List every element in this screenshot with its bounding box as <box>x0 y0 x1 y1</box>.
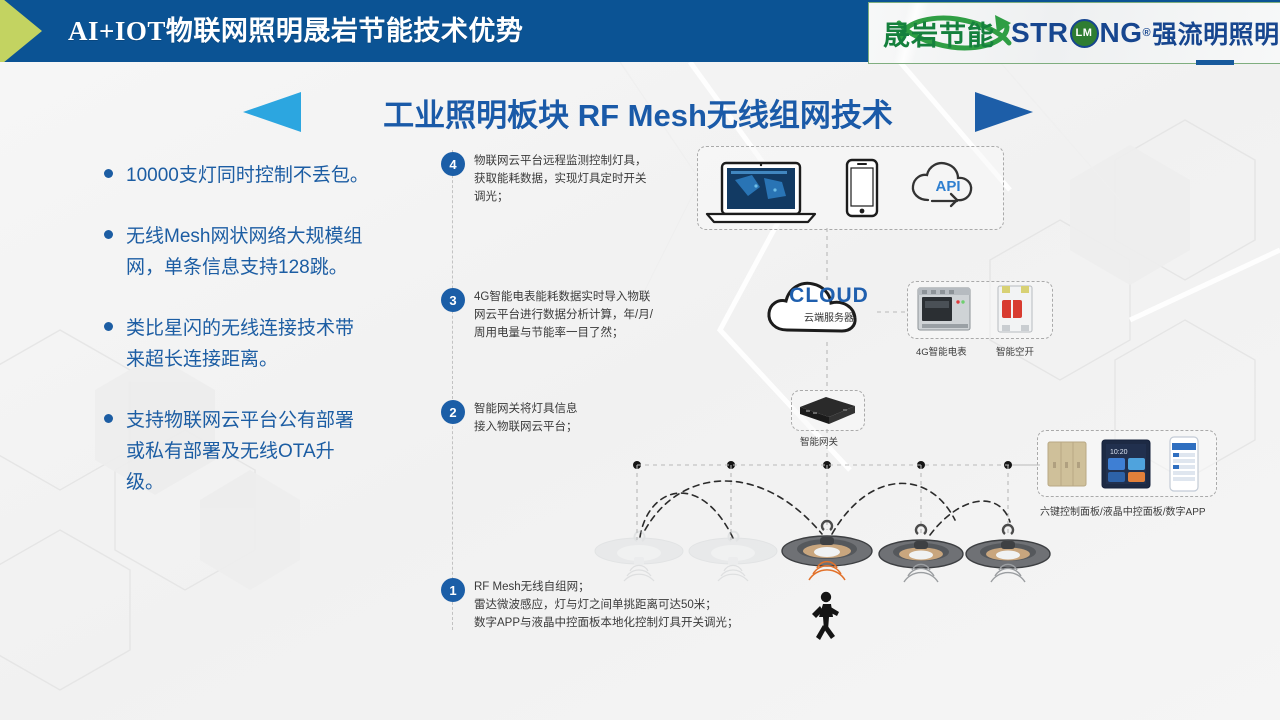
step-number-badge: 2 <box>441 400 465 424</box>
step-text: RF Mesh无线自组网； 雷达微波感应，灯与灯之间单挑距离可达50米； 数字A… <box>474 578 739 632</box>
bullet-dot-icon <box>104 322 113 331</box>
cloud-subtitle: 云端服务器 <box>781 309 877 324</box>
highbay-lamp-icon <box>782 521 872 580</box>
brand-latin: STRLMNG® 强流明照明 <box>1011 15 1280 51</box>
section-title-row: 工业照明板块 RF Mesh无线组网技术 <box>243 86 1033 138</box>
brand-chinese: 晟岩节能 <box>883 14 995 53</box>
step-1: 1 RF Mesh无线自组网； 雷达微波感应，灯与灯之间单挑距离可达50米； 数… <box>441 578 739 632</box>
list-item: 10000支灯同时控制不丢包。 <box>104 160 372 191</box>
bullet-dot-icon <box>104 414 113 423</box>
mesh-hop-arcs <box>640 481 1010 538</box>
mesh-node-dots <box>633 461 1012 469</box>
brand-o-mark-icon: LM <box>1070 19 1099 48</box>
brand-latin-pre: STR <box>1011 17 1069 49</box>
highbay-lamp-icon <box>966 525 1050 582</box>
caption-gateway: 智能网关 <box>800 434 838 448</box>
chevron-decoration-icon <box>0 0 42 62</box>
step-text: 4G智能电表能耗数据实时导入物联 网云平台进行数据分析计算，年/月/ 周用电量与… <box>474 288 653 342</box>
list-item: 支持物联网云平台公有部署或私有部署及无线OTA升级。 <box>104 405 372 498</box>
bullet-text: 类比星闪的无线连接技术带来超长连接距离。 <box>126 313 372 375</box>
page-title: AI+IOT物联网照明晟岩节能技术优势 <box>68 0 523 62</box>
feature-bullet-list: 10000支灯同时控制不丢包。 无线Mesh网状网络大规模组网，单条信息支持12… <box>104 160 372 528</box>
brand-suffix: 强流明照明 <box>1152 15 1280 51</box>
brand-logo: 晟岩节能 STRLMNG® 强流明照明 <box>868 2 1280 64</box>
person-walking-icon <box>812 592 839 640</box>
api-label: API <box>925 178 971 195</box>
step-connector-line <box>452 150 453 630</box>
control-panels-group <box>1037 430 1217 497</box>
step-4: 4 物联网云平台远程监测控制灯具， 获取能耗数据，实现灯具定时开关 调光； <box>441 152 647 206</box>
step-number-badge: 1 <box>441 578 465 602</box>
bullet-text: 10000支灯同时控制不丢包。 <box>126 160 369 191</box>
logo-underline-accent <box>1196 60 1234 65</box>
highbay-lamp-icon <box>689 532 777 581</box>
list-item: 无线Mesh网状网络大规模组网，单条信息支持128跳。 <box>104 221 372 283</box>
step-3: 3 4G智能电表能耗数据实时导入物联 网云平台进行数据分析计算，年/月/ 周用电… <box>441 288 653 342</box>
triangle-left-icon <box>243 92 301 132</box>
caption-breaker: 智能空开 <box>996 344 1034 358</box>
highbay-lamp-icon <box>595 532 683 581</box>
cloud-label: CLOUD 云端服务器 <box>781 284 877 324</box>
bullet-text: 支持物联网云平台公有部署或私有部署及无线OTA升级。 <box>126 405 372 498</box>
triangle-right-icon <box>975 92 1033 132</box>
registered-mark: ® <box>1143 27 1152 39</box>
bullet-text: 无线Mesh网状网络大规模组网，单条信息支持128跳。 <box>126 221 372 283</box>
bullet-dot-icon <box>104 230 113 239</box>
step-number-badge: 4 <box>441 152 465 176</box>
caption-meter: 4G智能电表 <box>916 344 967 358</box>
cloud-title: CLOUD <box>781 284 877 308</box>
section-title: 工业照明板块 RF Mesh无线组网技术 <box>301 90 975 135</box>
slide-canvas: AI+IOT物联网照明晟岩节能技术优势 晟岩节能 STRLMNG® 强流明照明 … <box>0 0 1280 720</box>
brand-latin-post: NG <box>1100 17 1143 49</box>
step-2: 2 智能网关将灯具信息 接入物联网云平台； <box>441 400 578 436</box>
bullet-dot-icon <box>104 169 113 178</box>
step-number-badge: 3 <box>441 288 465 312</box>
meter-devices-group <box>907 281 1053 339</box>
list-item: 类比星闪的无线连接技术带来超长连接距离。 <box>104 313 372 375</box>
caption-panels: 六键控制面板/液晶中控面板/数字APP <box>1040 503 1206 518</box>
mesh-drop-lines <box>637 465 1040 540</box>
gateway-device-group <box>791 390 865 431</box>
step-text: 物联网云平台远程监测控制灯具， 获取能耗数据，实现灯具定时开关 调光； <box>474 152 647 206</box>
step-text: 智能网关将灯具信息 接入物联网云平台； <box>474 400 578 436</box>
highbay-lamp-icon <box>879 525 963 582</box>
brand-o-text: LM <box>1072 21 1097 46</box>
